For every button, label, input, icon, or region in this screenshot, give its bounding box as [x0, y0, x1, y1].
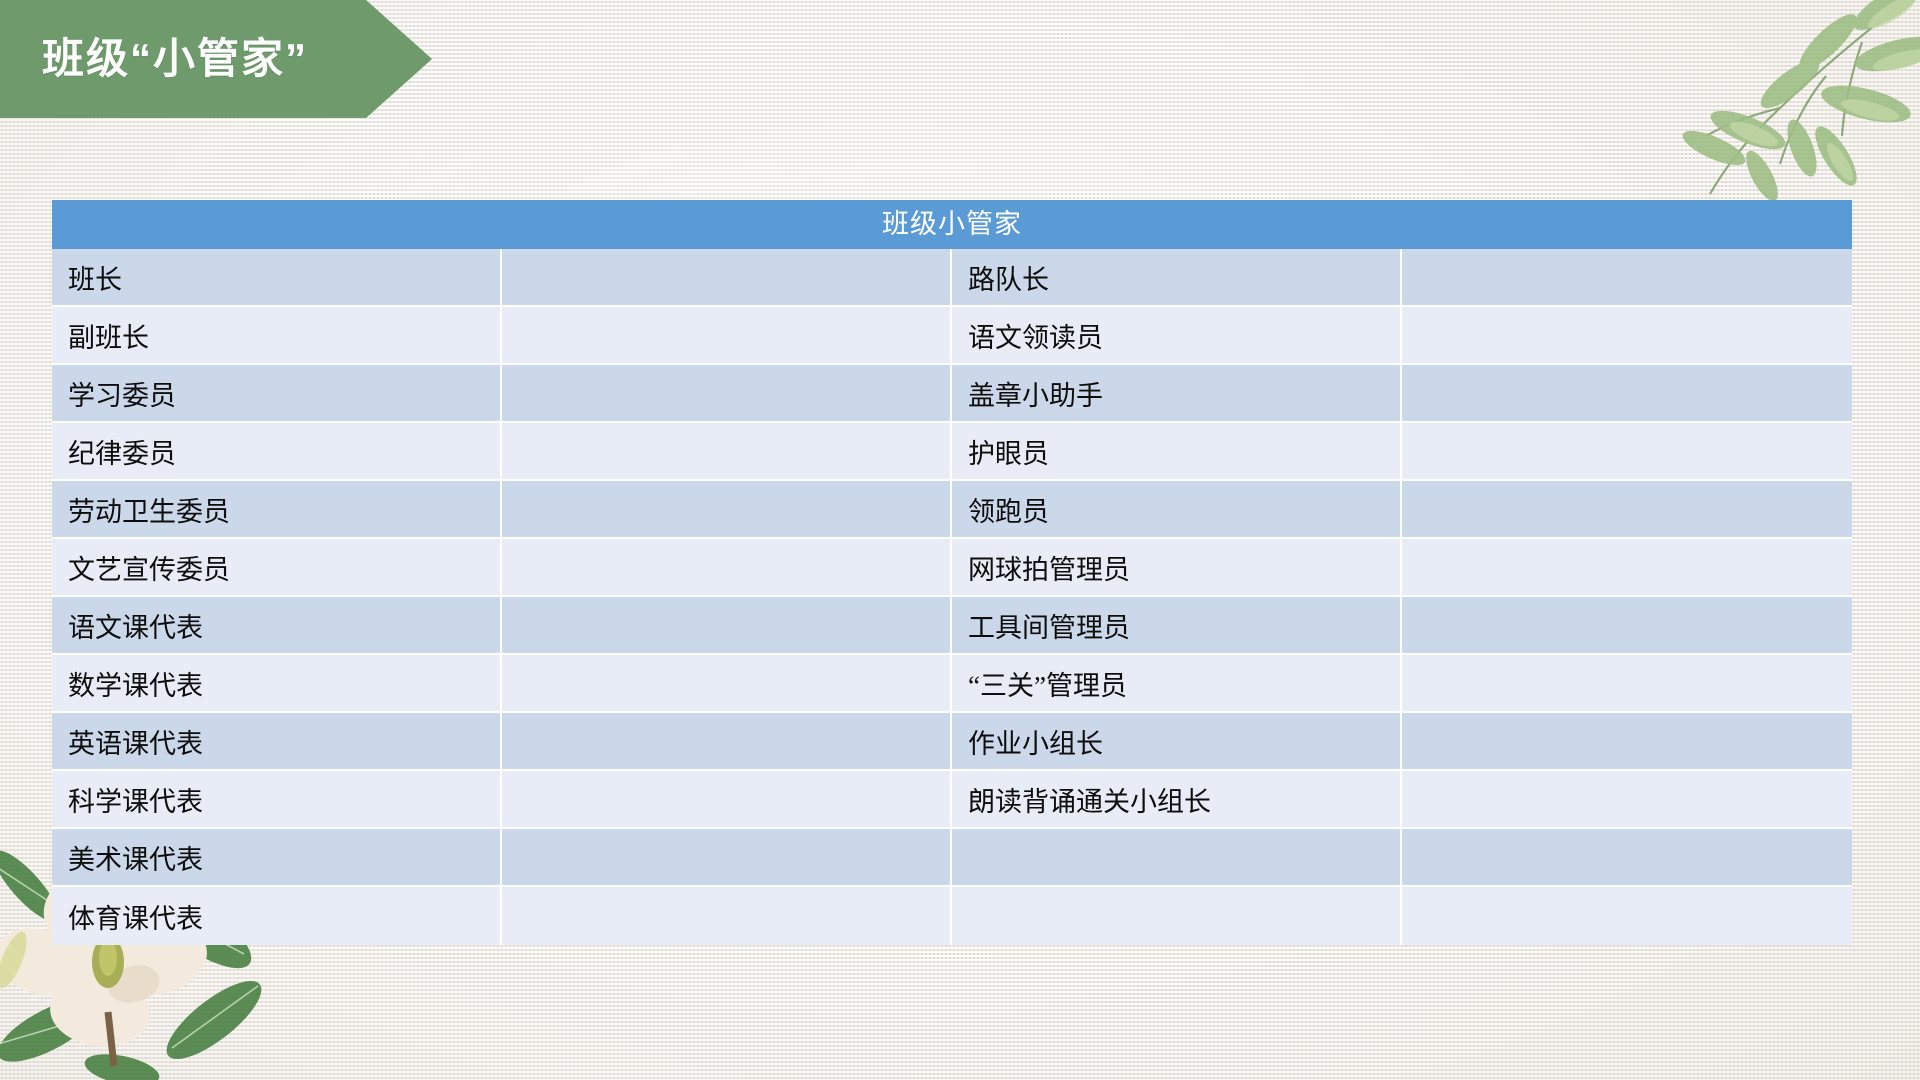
role-cell-right[interactable] — [952, 887, 1402, 945]
name-cell-right[interactable] — [1402, 307, 1852, 365]
role-cell-right[interactable]: 路队长 — [952, 249, 1402, 307]
name-cell-left[interactable] — [502, 423, 952, 481]
name-cell-left[interactable] — [502, 307, 952, 365]
name-cell-left[interactable] — [502, 539, 952, 597]
role-cell-right[interactable]: 语文领读员 — [952, 307, 1402, 365]
role-cell-left[interactable]: 文艺宣传委员 — [52, 539, 502, 597]
name-cell-right[interactable] — [1402, 249, 1852, 307]
name-cell-right[interactable] — [1402, 655, 1852, 713]
role-cell-right[interactable]: 工具间管理员 — [952, 597, 1402, 655]
name-cell-left[interactable] — [502, 655, 952, 713]
name-cell-right[interactable] — [1402, 539, 1852, 597]
role-cell-left[interactable]: 班长 — [52, 249, 502, 307]
name-cell-right[interactable] — [1402, 423, 1852, 481]
role-cell-left[interactable]: 体育课代表 — [52, 887, 502, 945]
role-cell-right[interactable]: 盖章小助手 — [952, 365, 1402, 423]
role-cell-left[interactable]: 语文课代表 — [52, 597, 502, 655]
name-cell-left[interactable] — [502, 597, 952, 655]
table-row: 语文课代表工具间管理员 — [52, 597, 1852, 655]
name-cell-right[interactable] — [1402, 771, 1852, 829]
name-cell-right[interactable] — [1402, 713, 1852, 771]
role-cell-left[interactable]: 英语课代表 — [52, 713, 502, 771]
role-cell-right[interactable]: 领跑员 — [952, 481, 1402, 539]
table-body: 班长路队长副班长语文领读员学习委员盖章小助手纪律委员护眼员劳动卫生委员领跑员文艺… — [52, 249, 1852, 945]
table-row: 班长路队长 — [52, 249, 1852, 307]
table-row: 学习委员盖章小助手 — [52, 365, 1852, 423]
table-row: 劳动卫生委员领跑员 — [52, 481, 1852, 539]
table-row: 体育课代表 — [52, 887, 1852, 945]
role-cell-left[interactable]: 美术课代表 — [52, 829, 502, 887]
name-cell-right[interactable] — [1402, 481, 1852, 539]
table-row: 纪律委员护眼员 — [52, 423, 1852, 481]
name-cell-right[interactable] — [1402, 887, 1852, 945]
name-cell-left[interactable] — [502, 481, 952, 539]
role-cell-left[interactable]: 劳动卫生委员 — [52, 481, 502, 539]
class-roster-table: 班级小管家 班长路队长副班长语文领读员学习委员盖章小助手纪律委员护眼员劳动卫生委… — [52, 200, 1852, 945]
role-cell-right[interactable]: 护眼员 — [952, 423, 1402, 481]
name-cell-left[interactable] — [502, 365, 952, 423]
table-row: 数学课代表“三关”管理员 — [52, 655, 1852, 713]
name-cell-left[interactable] — [502, 713, 952, 771]
name-cell-right[interactable] — [1402, 597, 1852, 655]
name-cell-right[interactable] — [1402, 829, 1852, 887]
table-row: 英语课代表作业小组长 — [52, 713, 1852, 771]
table-row: 副班长语文领读员 — [52, 307, 1852, 365]
role-cell-left[interactable]: 副班长 — [52, 307, 502, 365]
role-cell-right[interactable] — [952, 829, 1402, 887]
name-cell-left[interactable] — [502, 771, 952, 829]
table-row: 文艺宣传委员网球拍管理员 — [52, 539, 1852, 597]
table-header-row: 班级小管家 — [52, 200, 1852, 249]
role-cell-right[interactable]: 网球拍管理员 — [952, 539, 1402, 597]
role-cell-right[interactable]: 作业小组长 — [952, 713, 1402, 771]
page-title: 班级“小管家” — [0, 38, 308, 80]
role-cell-left[interactable]: 科学课代表 — [52, 771, 502, 829]
role-cell-left[interactable]: 纪律委员 — [52, 423, 502, 481]
role-cell-left[interactable]: 学习委员 — [52, 365, 502, 423]
role-cell-right[interactable]: “三关”管理员 — [952, 655, 1402, 713]
role-cell-right[interactable]: 朗读背诵通关小组长 — [952, 771, 1402, 829]
table-row: 科学课代表朗读背诵通关小组长 — [52, 771, 1852, 829]
table-header-title: 班级小管家 — [52, 200, 1852, 249]
role-cell-left[interactable]: 数学课代表 — [52, 655, 502, 713]
name-cell-left[interactable] — [502, 887, 952, 945]
name-cell-left[interactable] — [502, 829, 952, 887]
name-cell-right[interactable] — [1402, 365, 1852, 423]
table-row: 美术课代表 — [52, 829, 1852, 887]
slide-title-banner: 班级“小管家” — [0, 0, 432, 118]
name-cell-left[interactable] — [502, 249, 952, 307]
